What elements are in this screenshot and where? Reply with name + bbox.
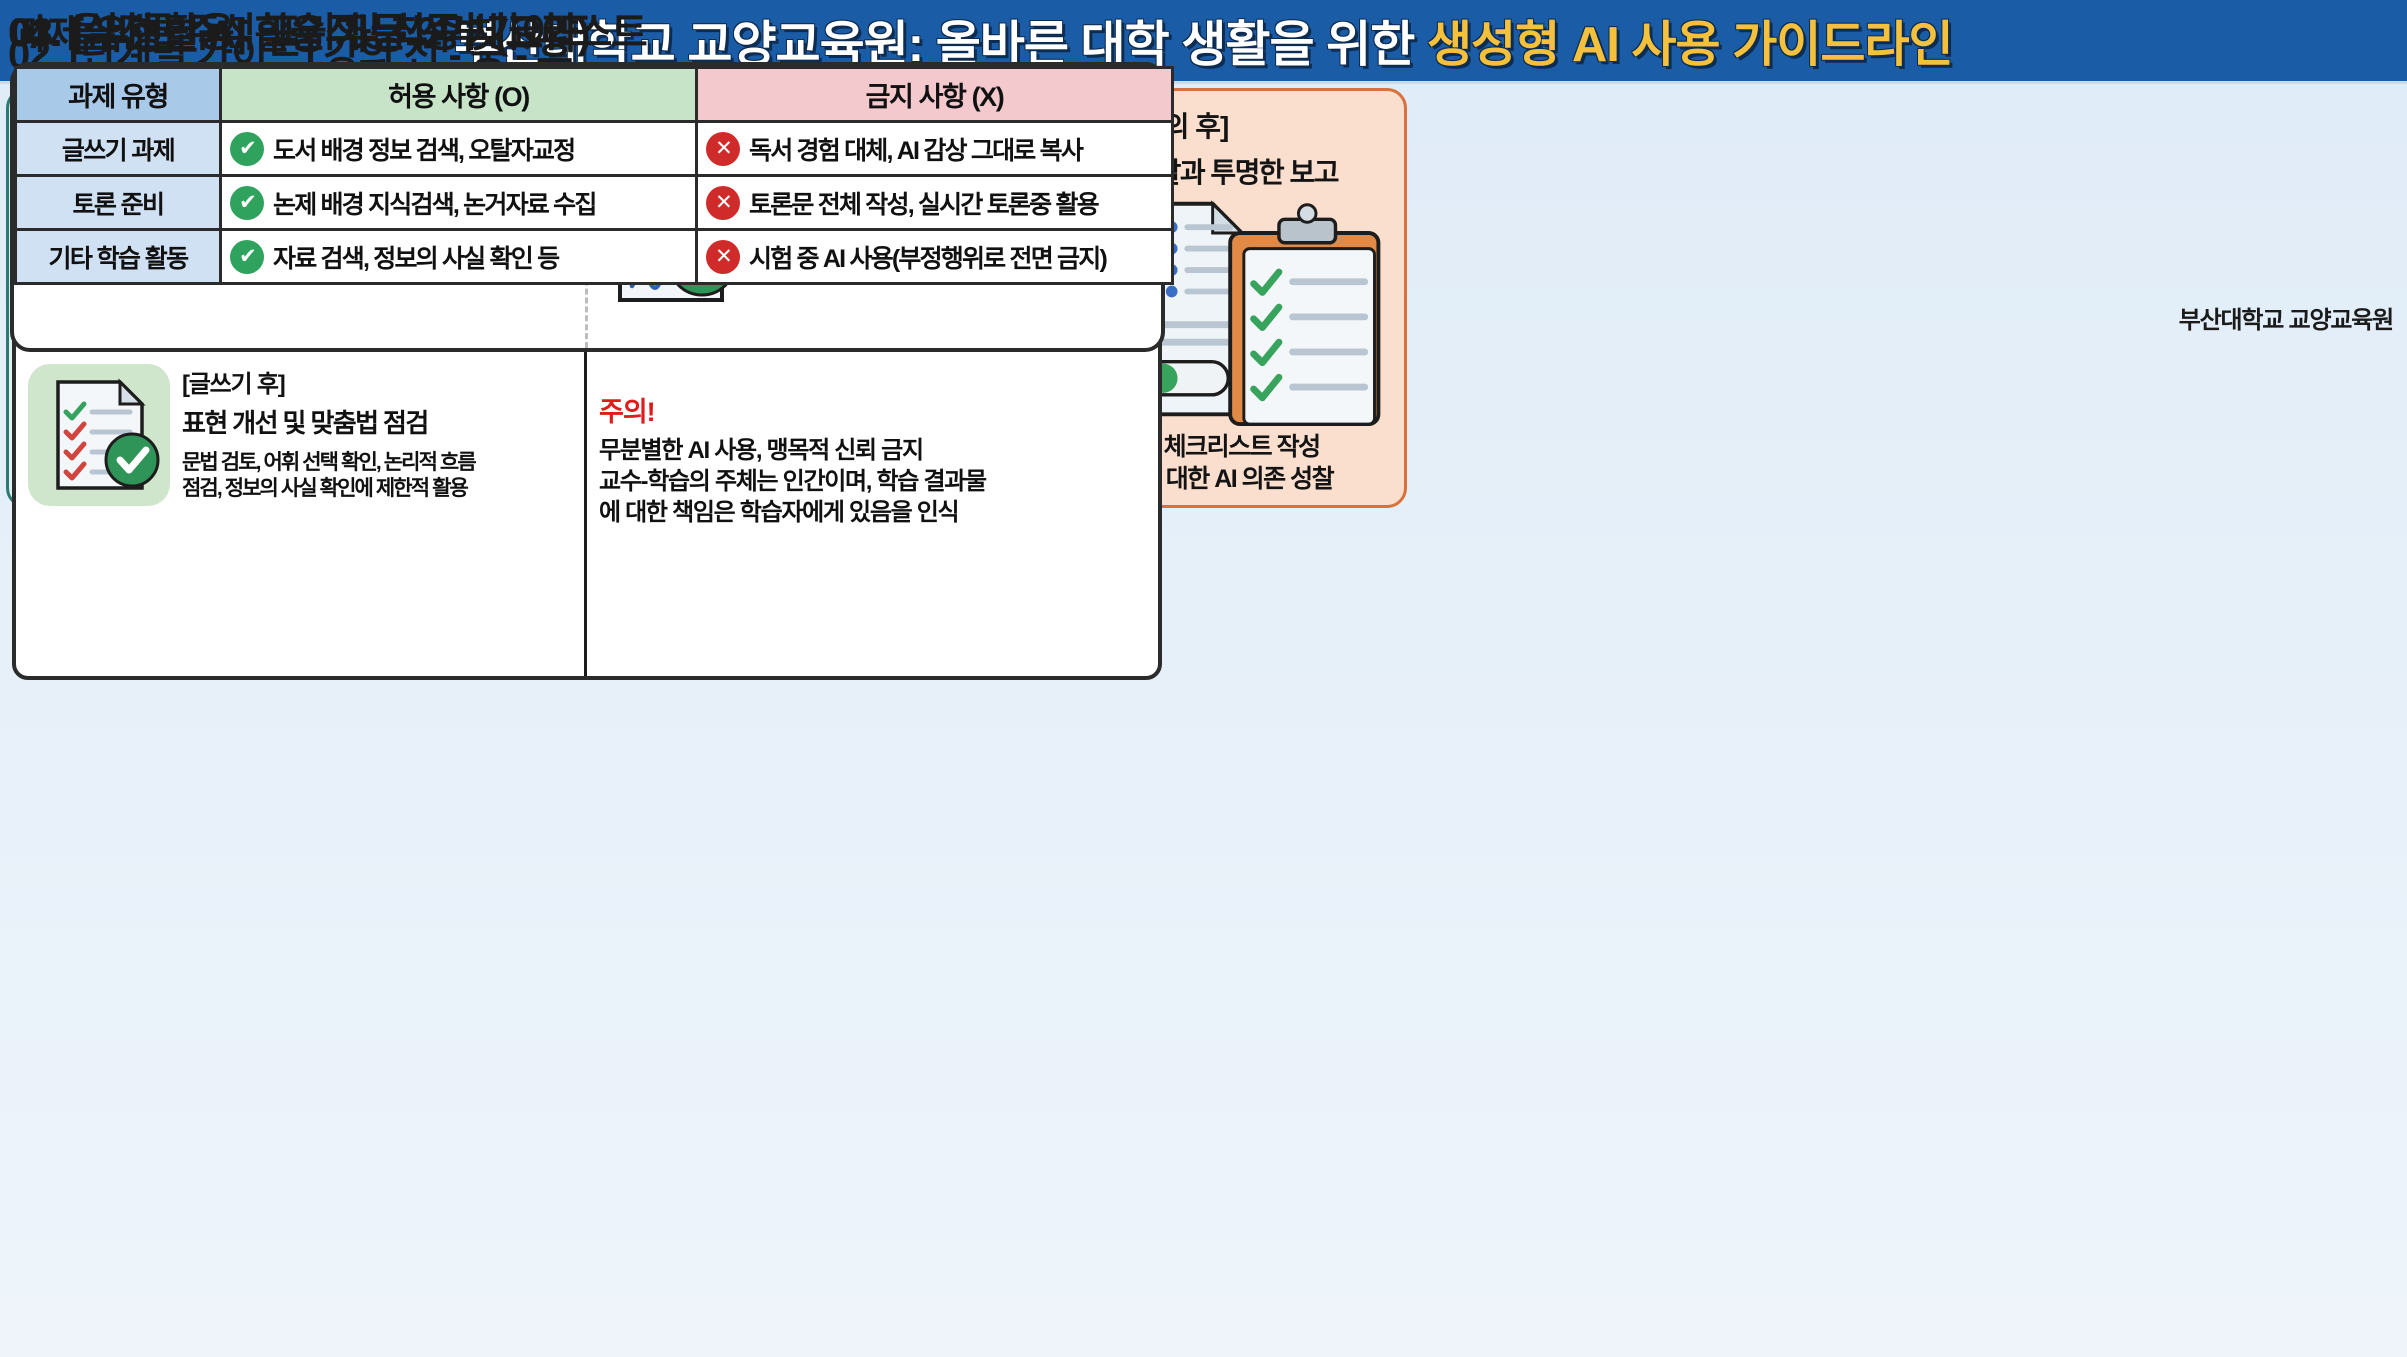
summary-col-forbidden: 금지 사항 (X) [697,68,1173,122]
row-3-allowed: ✔자료 검색, 정보의 사실 확인 등 [221,230,697,284]
row-2-forbidden: ✕토론문 전체 작성, 실시간 토론중 활용 [697,176,1173,230]
row-3-allowed-text: 자료 검색, 정보의 사실 확인 등 [273,239,558,275]
allowed-item-2: [글쓰기 후] 표현 개선 및 맞춤법 점검 문법 검토, 어휘 선택 확인, … [28,364,572,506]
ok-badge-icon: ✔ [230,240,264,274]
no-badge-icon: ✕ [706,240,740,274]
allowed-2-phase: [글쓰기 후] [182,364,475,399]
row-2-allowed: ✔논제 배경 지식검색, 논거자료 수집 [221,176,697,230]
page-title-highlight: 생성형 AI 사용 가이드라인 [1427,18,1953,72]
allowed-2-desc-2: 점검, 정보의 사실 확인에 제한적 활용 [182,476,475,502]
row-1-allowed: ✔도서 배경 정보 검색, 오탈자교정 [221,122,697,176]
warning-block: 주의! 무분별한 AI 사용, 맹목적 신뢰 금지 교수-학습의 주체는 인간이… [599,390,1146,529]
allowed-2-desc-1: 문법 검토, 어휘 선택 확인, 논리적 흐름 [182,450,475,476]
allowed-2-title: 표현 개선 및 맞춤법 점검 [182,403,475,440]
row-1-type: 글쓰기 과제 [16,122,221,176]
row-3-forbidden-text: 시험 중 AI 사용(부정행위로 전면 금지) [749,239,1106,275]
row-2-forbidden-text: 토론문 전체 작성, 실시간 토론중 활용 [749,185,1098,221]
no-badge-icon: ✕ [706,132,740,166]
table-row: 토론 준비 ✔논제 배경 지식검색, 논거자료 수집 ✕토론문 전체 작성, 실… [16,176,1173,230]
summary-col-allowed: 허용 사항 (O) [221,68,697,122]
row-3-type: 기타 학습 활동 [16,230,221,284]
proofread-checklist-icon [28,364,170,506]
footer-credit: 부산대학교 교양교육원 [2179,300,2393,335]
row-1-allowed-text: 도서 배경 정보 검색, 오탈자교정 [273,131,574,167]
ok-badge-icon: ✔ [230,132,264,166]
warning-title: 주의! [599,390,1146,429]
ok-badge-icon: ✔ [230,186,264,220]
section-05-heading: 과제 유형별 AI 활용 가능 여부 (요약) [12,2,589,60]
summary-header-row: 과제 유형 허용 사항 (O) 금지 사항 (X) [16,68,1173,122]
row-2-type: 토론 준비 [16,176,221,230]
table-row: 글쓰기 과제 ✔도서 배경 정보 검색, 오탈자교정 ✕독서 경험 대체, AI… [16,122,1173,176]
section-04-card: 04. 올바른 주석 표기 및 최종 체크리스트 투명한 출처 표기 (APA … [0,1220,1175,1357]
table-row: 기타 학습 활동 ✔자료 검색, 정보의 사실 확인 등 ✕시험 중 AI 사용… [16,230,1173,284]
summary-table: 과제 유형 허용 사항 (O) 금지 사항 (X) 글쓰기 과제 ✔도서 배경 … [14,66,1174,285]
warning-line-3: 에 대한 책임은 학습자에게 있음을 인식 [599,497,1146,528]
warning-line-1: 무분별한 AI 사용, 맹목적 신뢰 금지 [599,435,1146,466]
row-2-allowed-text: 논제 배경 지식검색, 논거자료 수집 [273,185,596,221]
section-03-card: 03. [실전 활용] 학술적 글쓰기 가이드 허용 사항 (O) 금지 사항 … [0,520,1170,1220]
row-3-forbidden: ✕시험 중 AI 사용(부정행위로 전면 금지) [697,230,1173,284]
no-badge-icon: ✕ [706,186,740,220]
row-1-forbidden-text: 독서 경험 대체, AI 감상 그대로 복사 [749,131,1082,167]
summary-col-type: 과제 유형 [16,68,221,122]
row-1-forbidden: ✕독서 경험 대체, AI 감상 그대로 복사 [697,122,1173,176]
infographic-page: 부산대학교 교양교육원: 올바른 대학 생활을 위한 생성형 AI 사용 가이드… [0,0,2407,1357]
warning-line-2: 교수-학습의 주체는 인간이며, 학습 결과물 [599,466,1146,497]
